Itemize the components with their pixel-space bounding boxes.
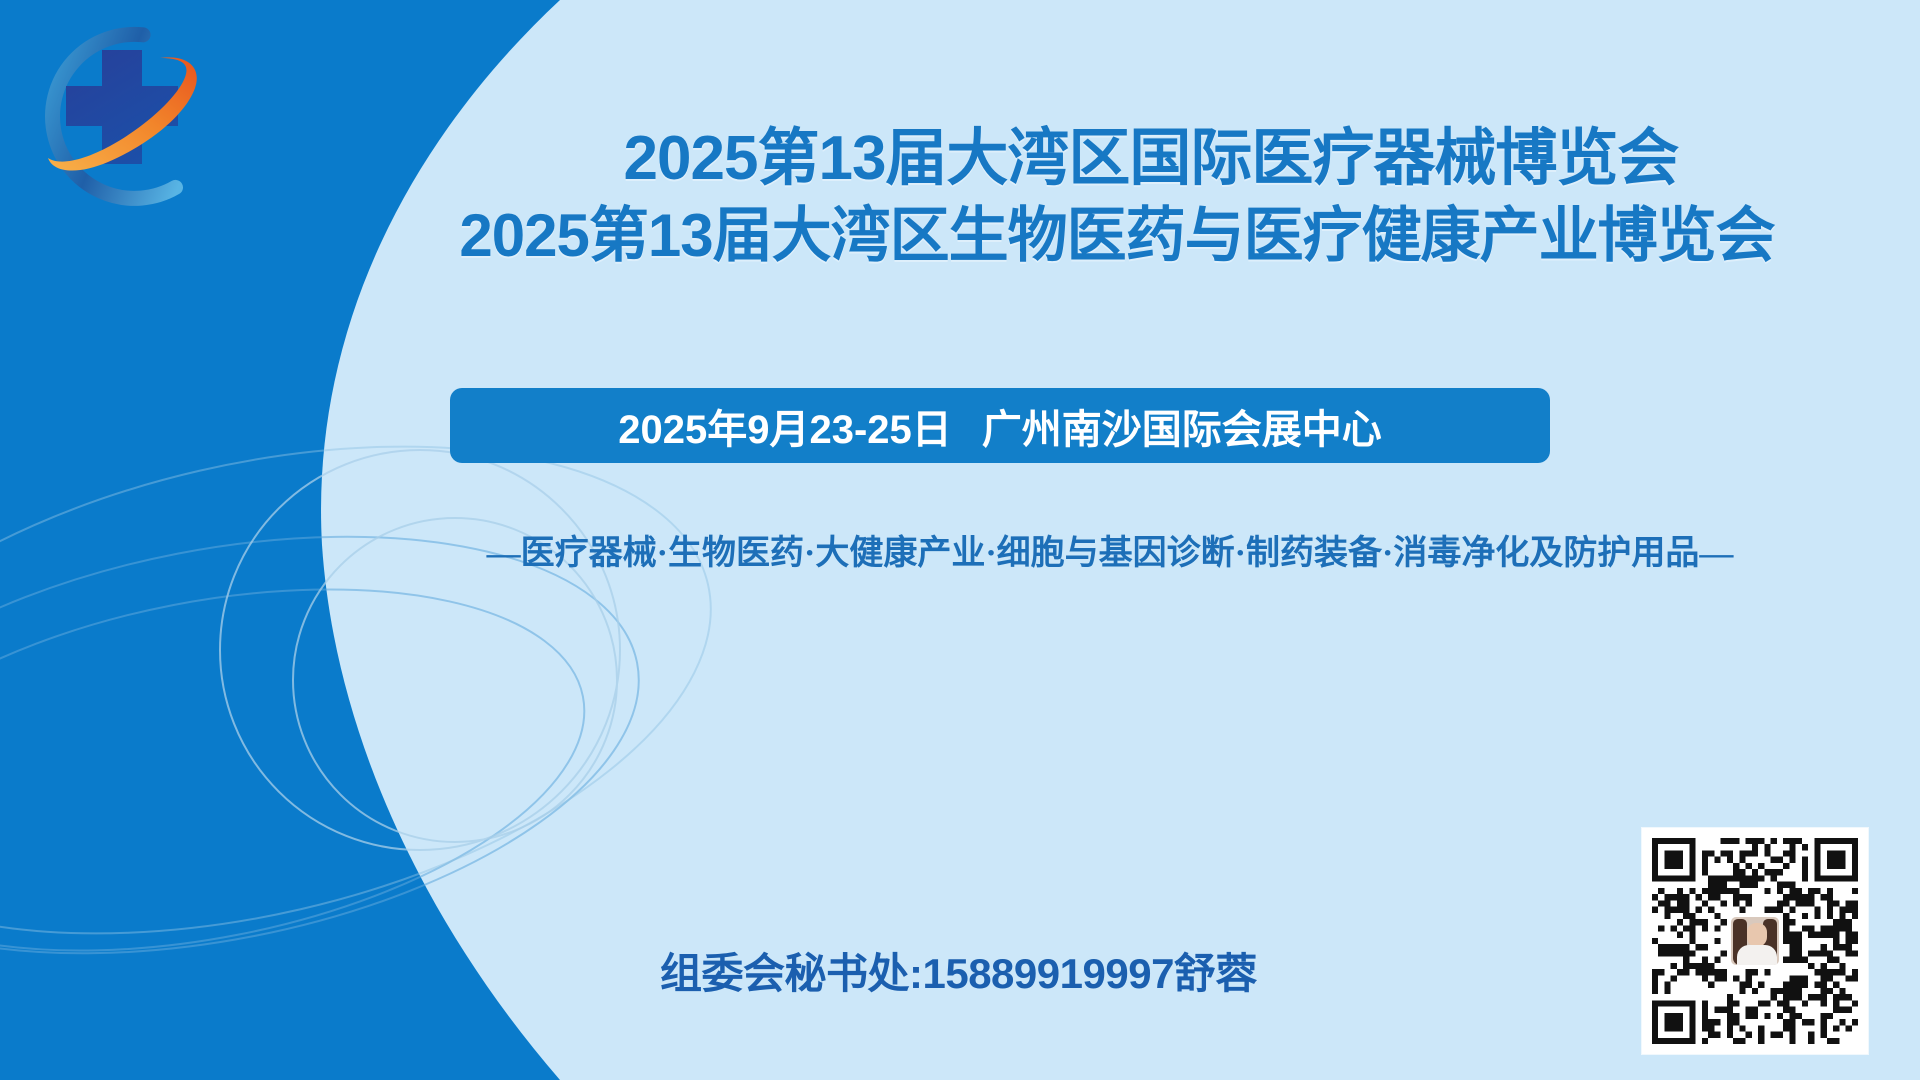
date-venue-badge: 2025年9月23-25日 广州南沙国际会展中心 (450, 388, 1550, 463)
organizer-contact: 组委会秘书处:15889919997舒蓉 (660, 940, 1280, 1001)
event-date: 2025年9月23-25日 (618, 397, 952, 455)
avatar-face (1747, 923, 1767, 947)
event-title-block: 2025第13届大湾区国际医疗器械博览会 2025第13届大湾区生物医药与医疗健… (330, 128, 1890, 266)
event-logo (10, 8, 245, 228)
exhibition-promo-banner: 2025第13届大湾区国际医疗器械博览会 2025第13届大湾区生物医药与医疗健… (0, 0, 1920, 1080)
event-venue: 广州南沙国际会展中心 (982, 397, 1382, 455)
avatar-body (1737, 945, 1777, 965)
qr-inner (1652, 838, 1858, 1044)
event-title-line-2: 2025第13届大湾区生物医药与医疗健康产业博览会 (344, 206, 1890, 266)
medical-cross-swoosh-logo-icon (10, 8, 245, 228)
qr-center-avatar (1729, 915, 1781, 967)
wechat-qr-code[interactable] (1642, 828, 1868, 1054)
event-scope-line: —医疗器械·生物医药·大健康产业·细胞与基因诊断·制药装备·消毒净化及防护用品— (280, 525, 1920, 574)
event-title-line-1: 2025第13届大湾区国际医疗器械博览会 (412, 128, 1890, 190)
